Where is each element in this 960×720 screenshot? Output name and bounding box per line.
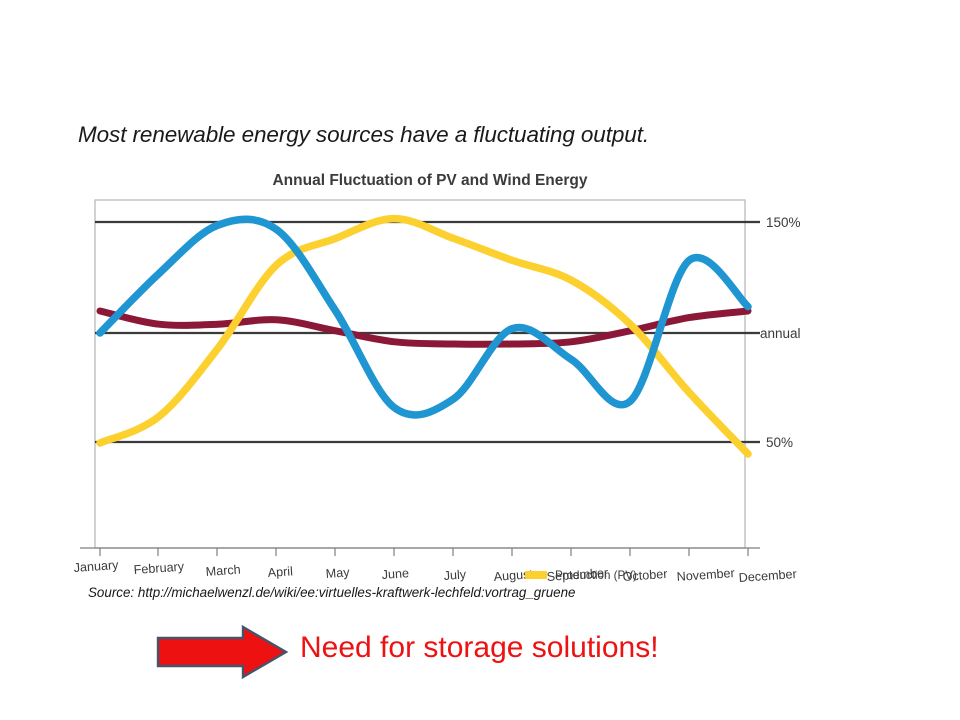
month-label-may: May — [325, 565, 350, 581]
chart-figure: Annual Fluctuation of PV and Wind Energy… — [60, 160, 800, 585]
callout-block: Need for storage solutions! — [155, 618, 795, 690]
right-arrow-icon — [155, 624, 290, 680]
source-caption: Source: http://michaelwenzl.de/wiki/ee:v… — [88, 585, 576, 600]
annual-fluctuation-chart: Annual Fluctuation of PV and Wind Energy… — [60, 160, 800, 585]
ytick-label-50: 50% — [766, 435, 793, 450]
month-label-march: March — [205, 563, 241, 579]
slide-canvas: Most renewable energy sources have a flu… — [0, 0, 960, 720]
month-label-april: April — [267, 564, 293, 580]
chart-title: Annual Fluctuation of PV and Wind Energy — [272, 172, 587, 189]
slide-headline: Most renewable energy sources have a flu… — [78, 122, 649, 148]
ytick-label-annual-average: annual average — [760, 326, 800, 341]
month-label-july: July — [443, 567, 467, 583]
ytick-label-150: 150% — [766, 215, 800, 230]
month-label-june: June — [381, 566, 409, 582]
legend-swatch-production-pv — [525, 571, 547, 579]
callout-text: Need for storage solutions! — [300, 618, 659, 678]
legend-label-production-pv: Production (PV) — [555, 569, 637, 582]
